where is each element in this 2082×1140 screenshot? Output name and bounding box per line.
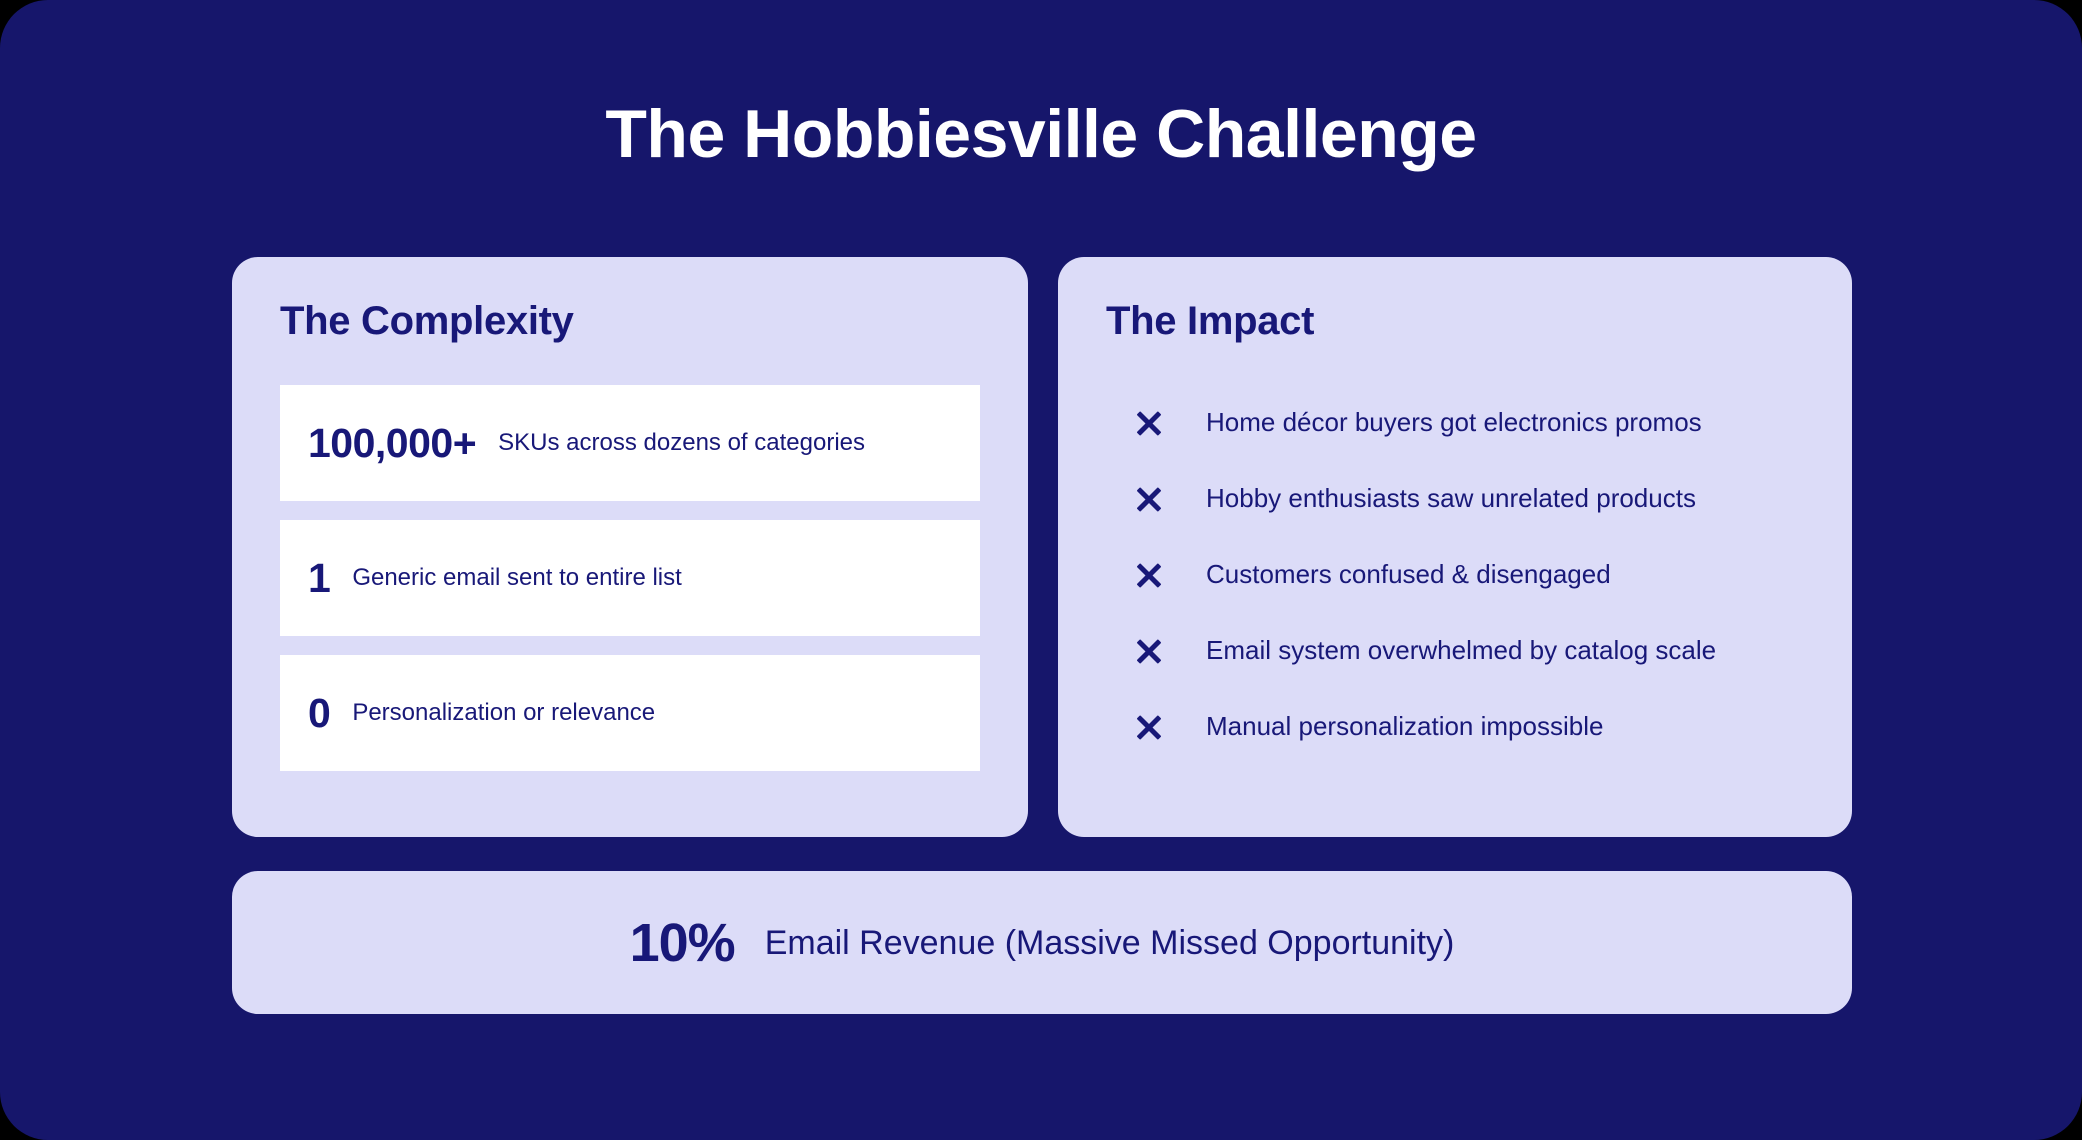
stat-value: 1 [308, 558, 330, 599]
stat-label: SKUs across dozens of categories [498, 430, 865, 456]
page-title: The Hobbiesville Challenge [0, 100, 2082, 168]
list-item: Hobby enthusiasts saw unrelated products [1106, 461, 1804, 537]
x-mark-icon [1132, 406, 1166, 440]
slide-canvas: The Hobbiesville Challenge The Complexit… [0, 0, 2082, 1140]
x-mark-icon [1132, 558, 1166, 592]
list-item: Home décor buyers got electronics promos [1106, 385, 1804, 461]
impact-item-label: Hobby enthusiasts saw unrelated products [1206, 483, 1696, 514]
stat-row: 100,000+ SKUs across dozens of categorie… [280, 385, 980, 501]
x-mark-icon [1132, 482, 1166, 516]
list-item: Email system overwhelmed by catalog scal… [1106, 613, 1804, 689]
list-item: Manual personalization impossible [1106, 689, 1804, 765]
impact-item-list: Home décor buyers got electronics promos… [1106, 385, 1804, 765]
impact-item-label: Home décor buyers got electronics promos [1206, 407, 1702, 438]
banner-label: Email Revenue (Massive Missed Opportunit… [765, 926, 1455, 960]
x-mark-icon [1132, 710, 1166, 744]
stat-row: 1 Generic email sent to entire list [280, 520, 980, 636]
complexity-card-heading: The Complexity [280, 301, 980, 341]
stat-row: 0 Personalization or relevance [280, 655, 980, 771]
banner-value: 10% [630, 916, 735, 970]
stat-label: Personalization or relevance [352, 700, 655, 726]
impact-item-label: Email system overwhelmed by catalog scal… [1206, 635, 1716, 666]
complexity-stat-list: 100,000+ SKUs across dozens of categorie… [280, 385, 980, 771]
stat-value: 100,000+ [308, 423, 476, 464]
impact-item-label: Manual personalization impossible [1206, 711, 1603, 742]
complexity-card: The Complexity 100,000+ SKUs across doze… [232, 257, 1028, 837]
x-mark-icon [1132, 634, 1166, 668]
stat-label: Generic email sent to entire list [352, 565, 681, 591]
revenue-banner: 10% Email Revenue (Massive Missed Opport… [232, 871, 1852, 1014]
list-item: Customers confused & disengaged [1106, 537, 1804, 613]
impact-item-label: Customers confused & disengaged [1206, 559, 1611, 590]
stat-value: 0 [308, 693, 330, 734]
impact-card-heading: The Impact [1106, 301, 1804, 341]
impact-card: The Impact Home décor buyers got electro… [1058, 257, 1852, 837]
